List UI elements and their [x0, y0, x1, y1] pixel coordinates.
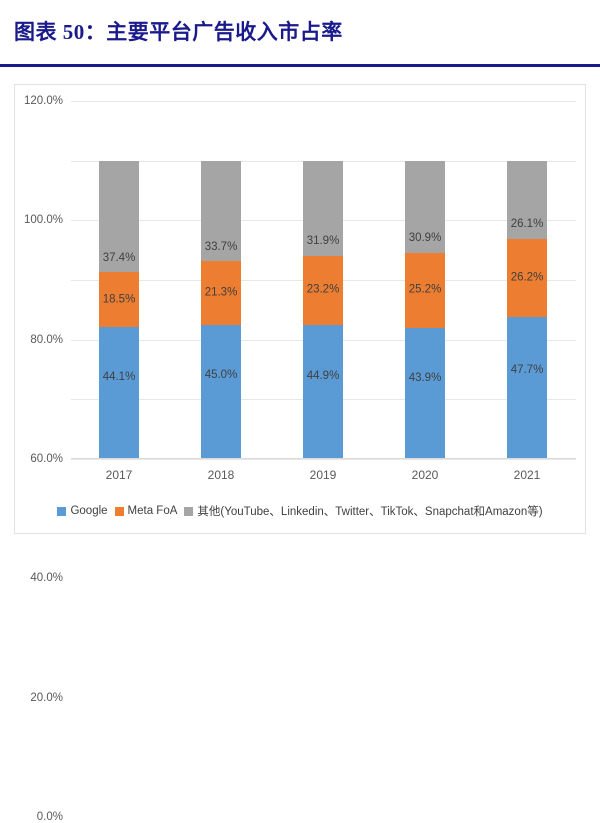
bar-value-label: 30.9% — [409, 233, 442, 245]
x-axis-tick-label: 2017 — [99, 468, 139, 482]
bar-segment-google[interactable]: 47.7% — [507, 317, 547, 459]
plot-area: 0.0%20.0%40.0%60.0%80.0%100.0%120.0%44.1… — [71, 101, 576, 459]
bar-segment-meta[interactable]: 23.2% — [303, 256, 343, 325]
bar-value-label: 44.9% — [307, 371, 340, 383]
title-band: 图表 50：主要平台广告收入市占率 — [0, 0, 600, 68]
y-axis-tick-label: 120.0% — [24, 95, 63, 107]
bar-value-label: 18.5% — [103, 294, 136, 306]
bar-segment-google[interactable]: 44.1% — [99, 327, 139, 459]
legend-label: 其他(YouTube、Linkedin、Twitter、TikTok、Snapc… — [197, 503, 542, 519]
bar-segment-google[interactable]: 45.0% — [201, 325, 241, 459]
stacked-bar: 45.0%21.3%33.7% — [201, 161, 241, 459]
legend-swatch-icon — [115, 507, 124, 516]
title-divider — [0, 64, 600, 67]
legend-label: Meta FoA — [128, 505, 178, 517]
x-axis-tick-label: 2021 — [507, 468, 547, 482]
bar-group[interactable]: 45.0%21.3%33.7%2018 — [201, 161, 241, 459]
bar-segment-google[interactable]: 44.9% — [303, 325, 343, 459]
bar-value-label: 47.7% — [511, 365, 544, 377]
stacked-bar: 47.7%26.2%26.1% — [507, 161, 547, 459]
bar-group[interactable]: 44.1%18.5%37.4%2017 — [99, 161, 139, 459]
bar-value-label: 33.7% — [205, 242, 238, 254]
legend-label: Google — [70, 505, 107, 517]
bar-value-label: 25.2% — [409, 285, 442, 297]
bar-value-label: 37.4% — [103, 253, 136, 265]
gridline: 120.0% — [71, 101, 576, 102]
bar-group[interactable]: 43.9%25.2%30.9%2020 — [405, 161, 445, 459]
stacked-bar: 43.9%25.2%30.9% — [405, 161, 445, 459]
bar-value-label: 45.0% — [205, 370, 238, 382]
chart-container: 0.0%20.0%40.0%60.0%80.0%100.0%120.0%44.1… — [14, 84, 586, 534]
legend-swatch-icon — [57, 507, 66, 516]
legend-swatch-icon — [184, 507, 193, 516]
x-axis-tick-label: 2020 — [405, 468, 445, 482]
bar-group[interactable]: 47.7%26.2%26.1%2021 — [507, 161, 547, 459]
legend-item[interactable]: 其他(YouTube、Linkedin、Twitter、TikTok、Snapc… — [184, 503, 542, 519]
gridline: 0.0% — [71, 459, 576, 460]
bar-segment-other[interactable]: 30.9% — [405, 161, 445, 253]
bar-segment-meta[interactable]: 25.2% — [405, 253, 445, 328]
bar-segment-meta[interactable]: 18.5% — [99, 272, 139, 327]
legend-item[interactable]: Meta FoA — [115, 505, 178, 517]
bar-group[interactable]: 44.9%23.2%31.9%2019 — [303, 161, 343, 459]
chart-legend: GoogleMeta FoA其他(YouTube、Linkedin、Twitte… — [15, 503, 585, 519]
y-axis-tick-label: 20.0% — [30, 692, 63, 704]
bar-value-label: 31.9% — [307, 236, 340, 248]
page-title: 图表 50：主要平台广告收入市占率 — [14, 16, 343, 46]
bar-segment-meta[interactable]: 21.3% — [201, 261, 241, 325]
legend-item[interactable]: Google — [57, 505, 107, 517]
bar-value-label: 43.9% — [409, 373, 442, 385]
y-axis-tick-label: 100.0% — [24, 214, 63, 226]
y-axis-tick-label: 40.0% — [30, 572, 63, 584]
x-axis-tick-label: 2018 — [201, 468, 241, 482]
chart-page: 图表 50：主要平台广告收入市占率 0.0%20.0%40.0%60.0%80.… — [0, 0, 600, 544]
y-axis-tick-label: 0.0% — [37, 811, 63, 823]
bar-value-label: 26.1% — [511, 219, 544, 231]
bar-segment-google[interactable]: 43.9% — [405, 328, 445, 459]
bar-segment-other[interactable]: 33.7% — [201, 161, 241, 262]
stacked-bar: 44.1%18.5%37.4% — [99, 161, 139, 459]
bar-segment-other[interactable]: 26.1% — [507, 161, 547, 239]
bar-segment-other[interactable]: 31.9% — [303, 161, 343, 256]
y-axis-tick-label: 60.0% — [30, 453, 63, 465]
y-axis-tick-label: 80.0% — [30, 334, 63, 346]
x-axis-tick-label: 2019 — [303, 468, 343, 482]
bar-value-label: 44.1% — [103, 372, 136, 384]
bar-segment-other[interactable]: 37.4% — [99, 161, 139, 273]
bar-value-label: 23.2% — [307, 285, 340, 297]
x-axis-line — [71, 458, 576, 459]
bar-segment-meta[interactable]: 26.2% — [507, 239, 547, 317]
stacked-bar: 44.9%23.2%31.9% — [303, 161, 343, 459]
bar-value-label: 26.2% — [511, 272, 544, 284]
bar-value-label: 21.3% — [205, 287, 238, 299]
